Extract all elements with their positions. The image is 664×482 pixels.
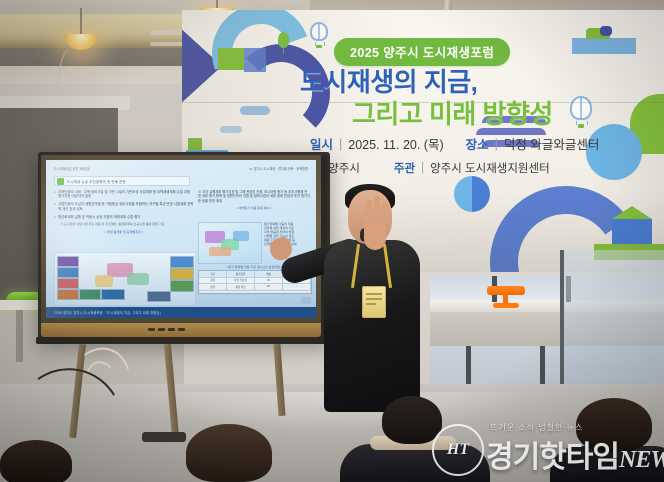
- display-mount-bar: [36, 337, 328, 344]
- date-value: 2025. 11. 20. (목): [348, 134, 443, 153]
- info-separator-1: |: [339, 137, 342, 151]
- manage-value: 양주시 도시재생지원센터: [430, 160, 550, 176]
- watermark-brand: 경기핫타임NEWS: [486, 432, 664, 476]
- watermark-logo-icon: HT: [432, 424, 484, 476]
- venue-label: 장소: [466, 134, 489, 153]
- presenter-finger-2: [374, 196, 380, 224]
- news-watermark: HT 뜨거운 소식 냉철한 뉴스 경기핫타임NEWS: [432, 418, 662, 480]
- left-table-leg: [16, 310, 23, 362]
- watermark-brand-en: NEWS: [619, 447, 664, 473]
- watermark-brand-kr: 경기핫타임: [486, 441, 619, 474]
- audience-member-far-left: [0, 440, 90, 482]
- photo-scene: 2025 양주시 도시재생포럼 도시재생의 지금, 그리고 미래 방향성 일시 …: [0, 0, 664, 482]
- glass-door: [560, 250, 664, 406]
- org-separator-2: |: [421, 162, 424, 174]
- presenter-finger-3: [382, 202, 388, 224]
- banner-title-line2: 그리고 미래 방향성: [352, 94, 553, 131]
- orange-desk-lamp: [487, 286, 525, 308]
- display-control-buttons[interactable]: [148, 328, 185, 331]
- date-label: 일시: [310, 134, 333, 153]
- presenter: [300, 182, 442, 412]
- host-value: 양주시: [328, 160, 360, 176]
- watermark-monogram: HT: [434, 426, 482, 474]
- presenter-lanyard: [352, 244, 394, 296]
- banner-organizer-line: 주최 | 양주시 주관 | 양주시 도시재생지원센터: [292, 160, 550, 176]
- venue-value: 덕정 와글와글센터: [504, 134, 599, 153]
- banner-info-line: 일시 | 2025. 11. 20. (목) 장소 | 덕정 와글와글센터: [310, 134, 599, 153]
- presenter-finger-1: [366, 200, 372, 224]
- manage-label: 주관: [394, 160, 415, 176]
- audience-member-left: [150, 424, 310, 482]
- name-badge: [362, 286, 386, 318]
- info-separator-2: |: [495, 137, 498, 151]
